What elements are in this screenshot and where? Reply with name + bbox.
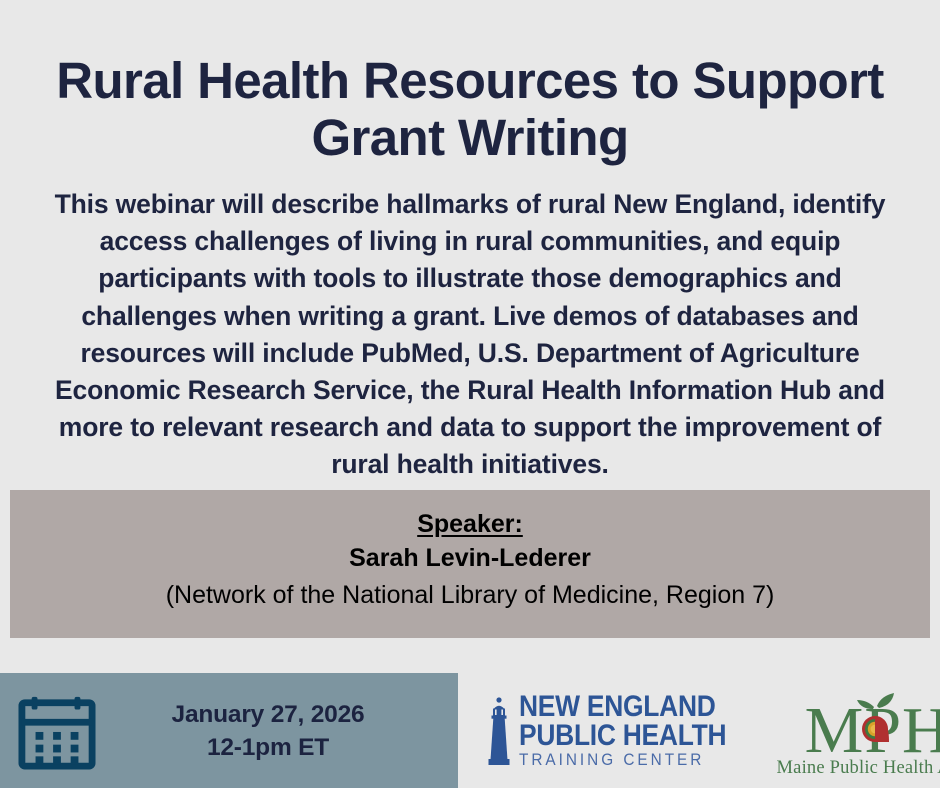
lighthouse-icon <box>484 695 514 767</box>
nephtc-line-1: NEW ENGLAND <box>519 692 726 721</box>
description-line: more to relevant research and data to su… <box>14 409 926 446</box>
description-line: access challenges of living in rural com… <box>14 223 926 260</box>
speaker-band: Speaker: Sarah Levin-Lederer (Network of… <box>10 490 930 638</box>
event-datetime: January 27, 2026 12-1pm ET <box>96 698 458 764</box>
mpha-acronym-mark: MPHA MPHA <box>795 684 940 760</box>
event-date: January 27, 2026 <box>96 698 440 731</box>
speaker-name: Sarah Levin-Lederer <box>10 540 930 577</box>
mpha-logo: MPHA MPHA Maine Public Health Associatio… <box>777 684 940 778</box>
event-date-bar: January 27, 2026 12-1pm ET <box>0 673 458 788</box>
event-time: 12-1pm ET <box>96 731 440 764</box>
nephtc-wordmark: NEW ENGLAND PUBLIC HEALTH TRAINING CENTE… <box>519 692 755 770</box>
mpha-tagline: Maine Public Health Association <box>777 758 940 778</box>
description-line: Economic Research Service, the Rural Hea… <box>14 372 926 409</box>
title-line-2: Grant Writing <box>0 109 940 166</box>
description-line: rural health initiatives. <box>14 446 926 483</box>
description-line: This webinar will describe hallmarks of … <box>14 186 926 223</box>
title-line-1: Rural Health Resources to Support <box>0 52 940 109</box>
description-line: challenges when writing a grant. Live de… <box>14 298 926 335</box>
page-title: Rural Health Resources to Support Grant … <box>0 52 940 166</box>
description-line: resources will include PubMed, U.S. Depa… <box>14 335 926 372</box>
nephtc-line-3: TRAINING CENTER <box>519 750 738 770</box>
description-line: participants with tools to illustrate th… <box>14 260 926 297</box>
calendar-icon <box>18 692 96 770</box>
logo-area: NEW ENGLAND PUBLIC HEALTH TRAINING CENTE… <box>458 673 940 788</box>
speaker-affiliation: (Network of the National Library of Medi… <box>10 577 930 614</box>
webinar-description: This webinar will describe hallmarks of … <box>14 186 926 484</box>
nephtc-line-2: PUBLIC HEALTH <box>519 721 726 750</box>
speaker-heading: Speaker: <box>10 508 930 540</box>
nephtc-logo: NEW ENGLAND PUBLIC HEALTH TRAINING CENTE… <box>484 692 755 770</box>
